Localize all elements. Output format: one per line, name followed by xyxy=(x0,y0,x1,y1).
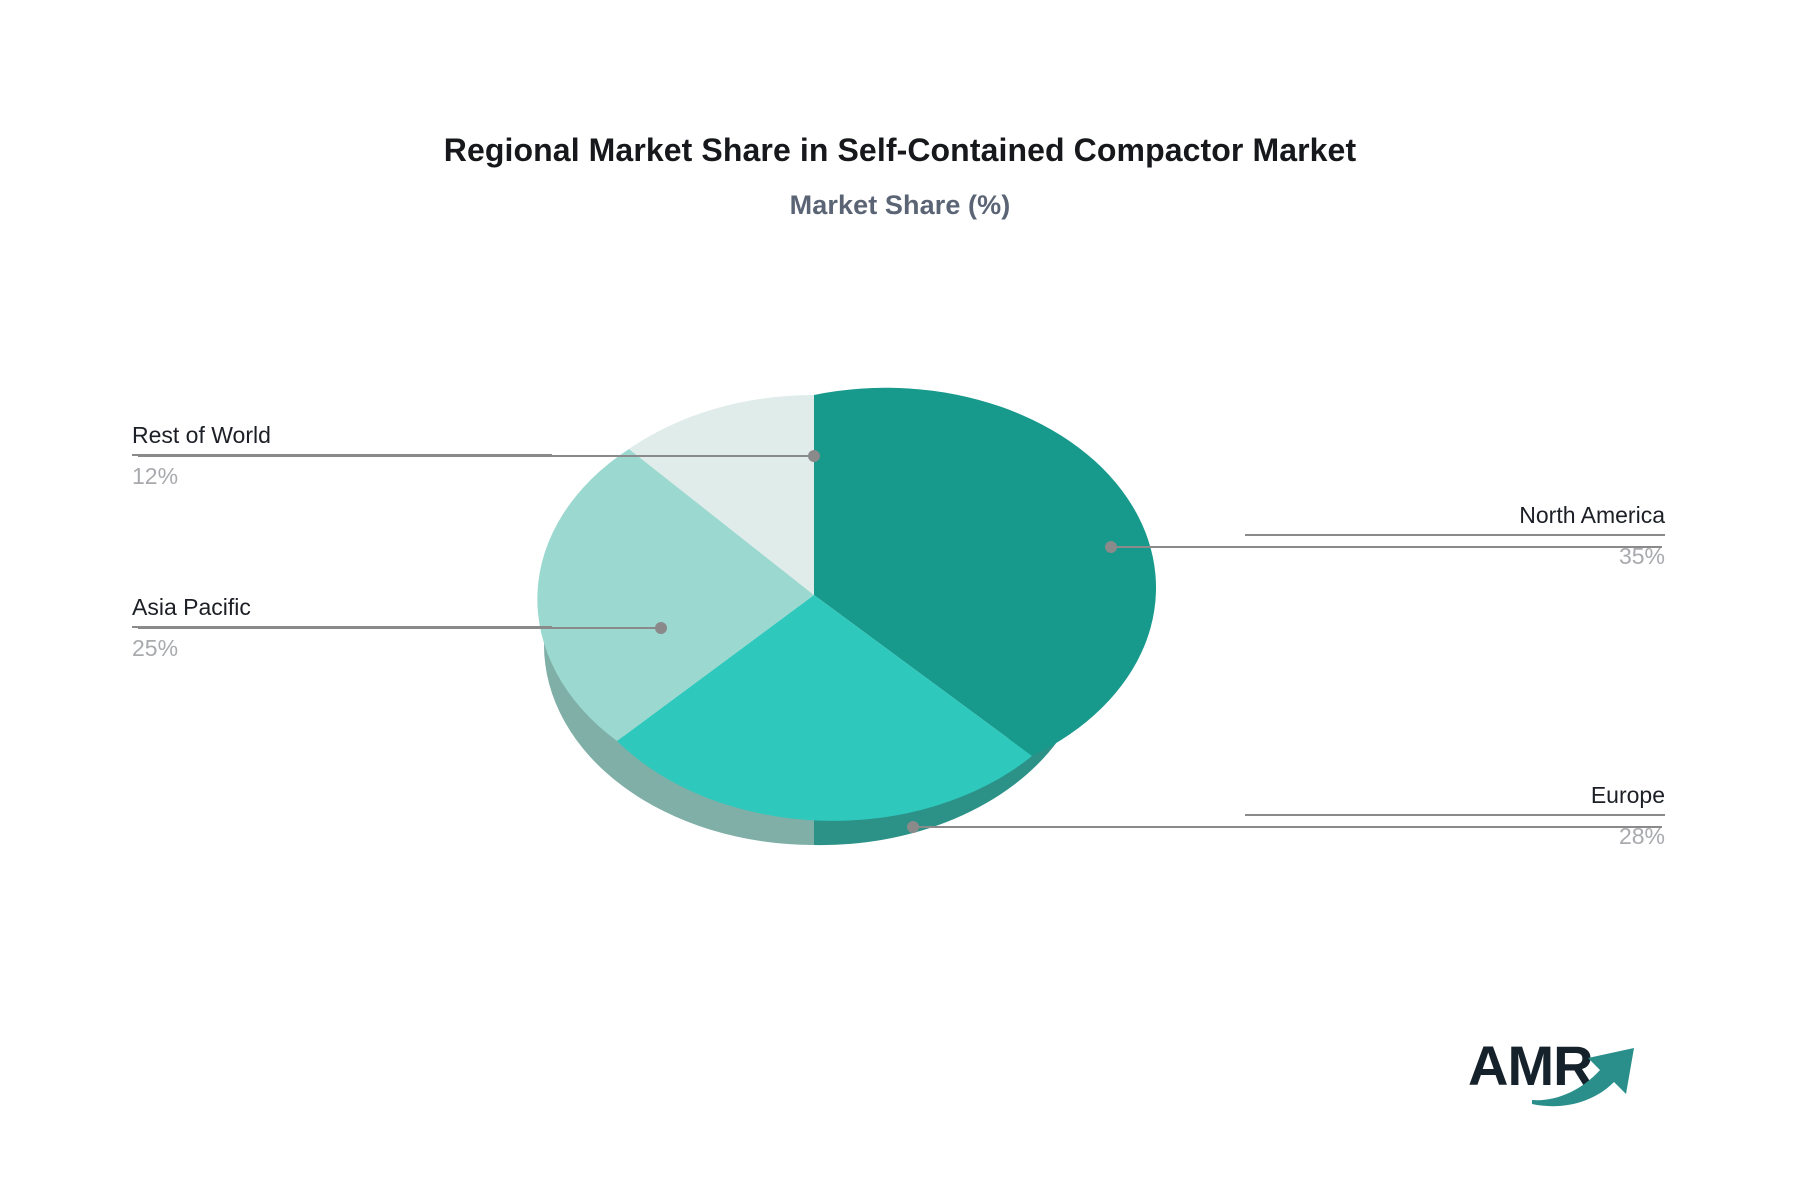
pie-label-rule xyxy=(132,626,552,628)
growth-arrow-icon xyxy=(1530,1030,1660,1108)
pie-label-rule xyxy=(1245,534,1665,536)
pie-label-value: 28% xyxy=(1245,821,1665,851)
leader-dot-asia-pacific xyxy=(655,622,667,634)
leader-dot-north-america xyxy=(1105,541,1117,553)
pie-label-asia-pacific[interactable]: Asia Pacific 25% xyxy=(132,592,552,663)
pie-label-rest-of-world[interactable]: Rest of World 12% xyxy=(132,420,552,491)
pie-label-north-america[interactable]: North America 35% xyxy=(1245,500,1665,571)
amr-logo: AMR xyxy=(1468,1030,1658,1110)
pie-label-europe[interactable]: Europe 28% xyxy=(1245,780,1665,851)
pie-label-value: 12% xyxy=(132,461,552,491)
pie-label-name: Asia Pacific xyxy=(132,592,552,622)
pie-label-rule xyxy=(1245,814,1665,816)
pie-label-name: Rest of World xyxy=(132,420,552,450)
pie-label-value: 25% xyxy=(132,633,552,663)
pie-label-value: 35% xyxy=(1245,541,1665,571)
chart-canvas: Regional Market Share in Self-Contained … xyxy=(0,0,1800,1196)
pie-label-name: Europe xyxy=(1245,780,1665,810)
pie-label-rule xyxy=(132,454,552,456)
pie-label-name: North America xyxy=(1245,500,1665,530)
leader-dot-europe xyxy=(907,821,919,833)
leader-dot-rest-of-world xyxy=(808,450,820,462)
